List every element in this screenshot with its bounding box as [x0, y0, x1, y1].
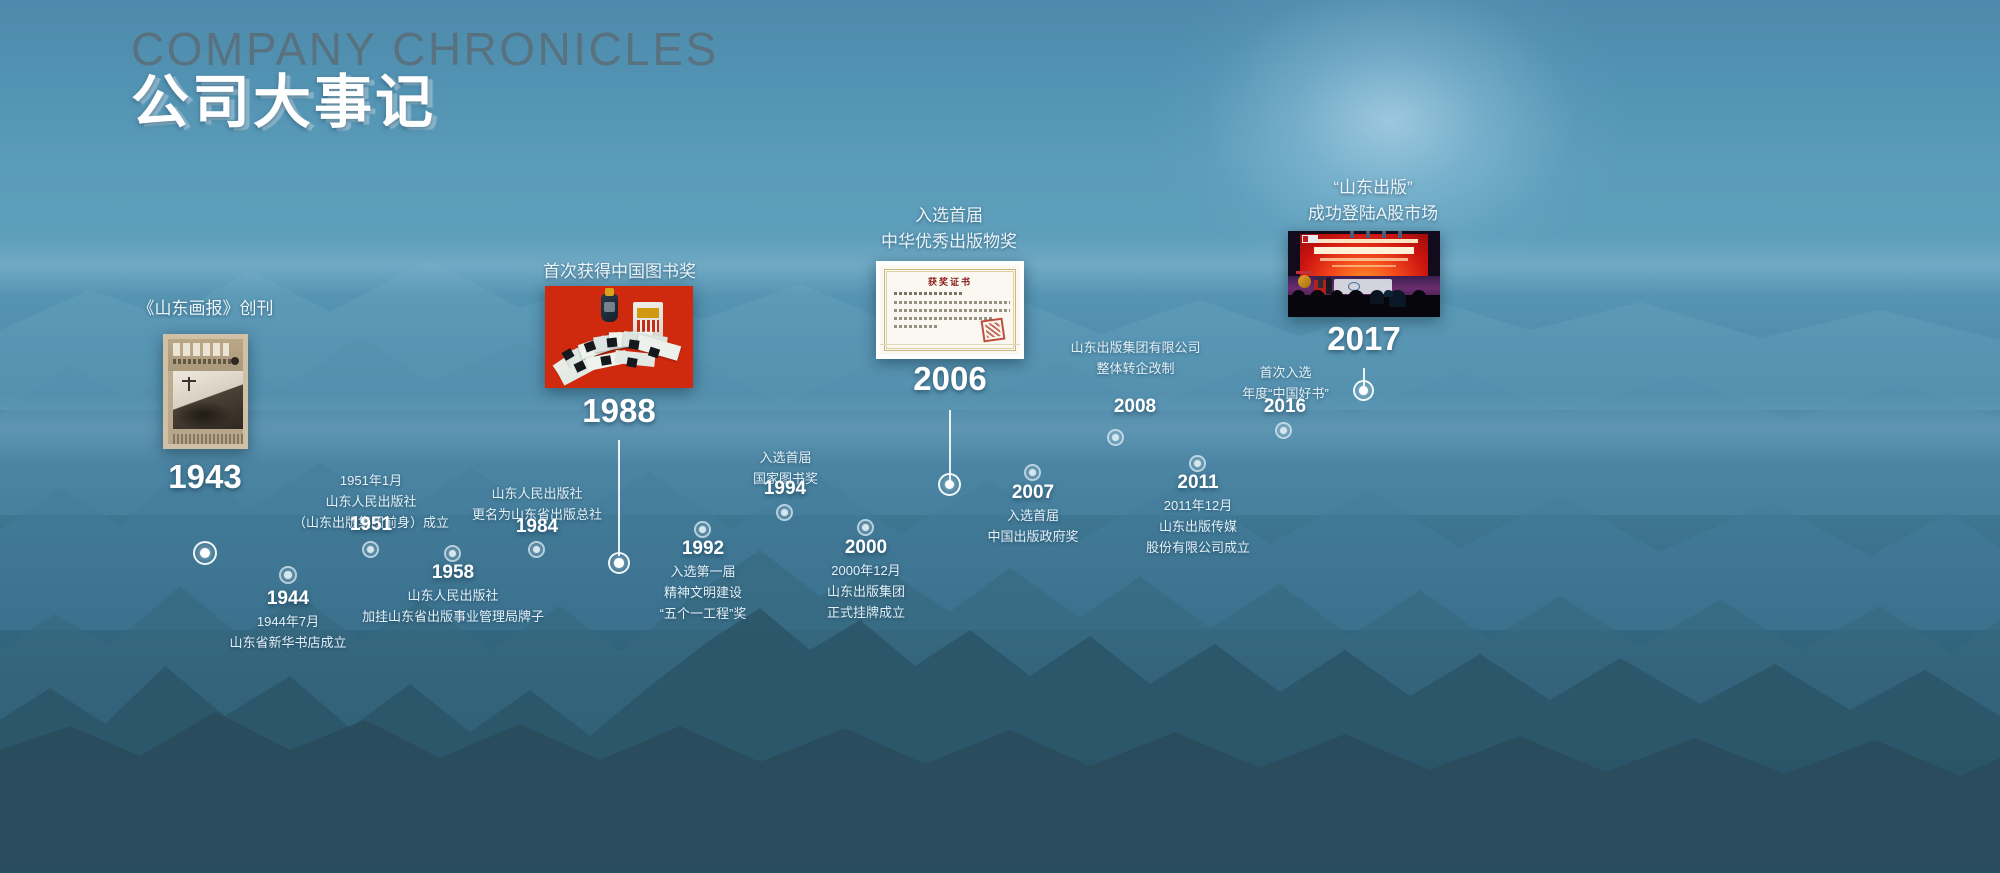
event-desc-line: 山东出版集团有限公司 [1028, 338, 1243, 359]
header: COMPANY CHRONICLES 公司大事记 公司大事记 [0, 0, 2000, 150]
event-desc-1958: 山东人民出版社 加挂山东省出版事业管理局牌子 [358, 586, 548, 628]
event-desc-line: 入选首届 [958, 506, 1108, 527]
event-node-2007[interactable] [1024, 464, 1041, 481]
photo-ipo-ceremony-2017[interactable] [1288, 231, 1440, 317]
event-node-1992[interactable] [694, 521, 711, 538]
event-desc-line: 1944年7月 [208, 612, 368, 633]
event-desc-line: 1951年1月 [281, 471, 461, 492]
event-year-2008: 2008 [1075, 396, 1195, 418]
event-year-1992: 1992 [643, 538, 763, 560]
event-node-2006[interactable] [938, 473, 961, 496]
event-year-1944: 1944 [228, 588, 348, 610]
event-year-2011: 2011 [1138, 472, 1258, 494]
mountain-layer-near [0, 400, 2000, 760]
event-caption-2017: “山东出版” 成功登陆A股市场 [1253, 175, 1493, 228]
event-node-2017[interactable] [1353, 380, 1374, 401]
event-desc-1944: 1944年7月 山东省新华书店成立 [208, 612, 368, 654]
event-desc-line: 山东人民出版社 [281, 492, 461, 513]
event-year-2000: 2000 [806, 537, 926, 559]
event-caption-line: 入选首届 [824, 203, 1074, 229]
event-desc-line: 中国出版政府奖 [958, 527, 1108, 548]
banner-line-1 [1310, 239, 1418, 243]
event-desc-2007: 入选首届 中国出版政府奖 [958, 506, 1108, 548]
event-desc-line: 山东省新华书店成立 [208, 633, 368, 654]
event-desc-line: 加挂山东省出版事业管理局牌子 [358, 607, 548, 628]
event-year-1958: 1958 [393, 562, 513, 584]
event-node-1944[interactable] [279, 566, 297, 584]
certificate-title: 获奖证书 [880, 275, 1020, 288]
event-stem-1988 [618, 440, 620, 556]
event-year-2006: 2006 [860, 360, 1040, 398]
event-year-1994: 1994 [725, 478, 845, 500]
event-desc-line: 山东人民出版社 [358, 586, 548, 607]
event-year-2016: 2016 [1225, 396, 1345, 418]
photo-shandong-pictorial-1943[interactable] [163, 334, 248, 449]
event-stem-2006 [949, 410, 951, 482]
event-year-1943: 1943 [115, 458, 295, 496]
event-caption-line: “山东出版” [1253, 175, 1493, 201]
event-desc-2008: 山东出版集团有限公司 整体转企改制 [1028, 338, 1243, 380]
event-node-1984[interactable] [528, 541, 545, 558]
event-year-1988: 1988 [529, 392, 709, 430]
event-desc-line: 山东出版传媒 [1118, 517, 1278, 538]
event-desc-line: 入选第一届 [628, 562, 778, 583]
event-desc-line: “五个一工程”奖 [628, 604, 778, 625]
event-desc-1992: 入选第一届 精神文明建设 “五个一工程”奖 [628, 562, 778, 624]
banner-line-2 [1314, 247, 1414, 254]
event-caption-line: 中华优秀出版物奖 [824, 229, 1074, 255]
event-desc-line: 首次入选 [1213, 363, 1358, 384]
event-year-2017: 2017 [1274, 320, 1454, 358]
event-desc-line: 股份有限公司成立 [1118, 538, 1278, 559]
event-desc-line: 2000年12月 [791, 561, 941, 582]
event-desc-line: 整体转企改制 [1028, 359, 1243, 380]
event-desc-2000: 2000年12月 山东出版集团 正式挂牌成立 [791, 561, 941, 623]
photo-award-certificate-2006[interactable]: 获奖证书 [876, 261, 1024, 359]
event-desc-line: 山东出版集团 [791, 582, 941, 603]
page-title-chinese: 公司大事记 [131, 55, 436, 139]
event-year-1984: 1984 [477, 516, 597, 538]
event-desc-2011: 2011年12月 山东出版传媒 股份有限公司成立 [1118, 496, 1278, 558]
event-desc-line: 2011年12月 [1118, 496, 1278, 517]
event-node-1994[interactable] [776, 504, 793, 521]
event-node-1951[interactable] [362, 541, 379, 558]
timeline-infographic: COMPANY CHRONICLES 公司大事记 公司大事记 《山东画报》创刊 … [0, 0, 2000, 873]
event-node-1988[interactable] [608, 552, 630, 574]
event-node-2008[interactable] [1107, 429, 1124, 446]
event-desc-line: 正式挂牌成立 [791, 603, 941, 624]
event-caption-1988: 首次获得中国图书奖 [492, 259, 747, 285]
event-year-2007: 2007 [973, 482, 1093, 504]
event-node-2016[interactable] [1275, 422, 1292, 439]
event-year-1951: 1951 [311, 514, 431, 536]
event-caption-1943: 《山东画报》创刊 [78, 296, 333, 322]
event-node-1943[interactable] [193, 541, 217, 565]
event-node-2000[interactable] [857, 519, 874, 536]
event-node-2011[interactable] [1189, 455, 1206, 472]
event-caption-line: 成功登陆A股市场 [1253, 201, 1493, 227]
photo-china-book-award-1988[interactable] [545, 286, 693, 388]
event-caption-2006: 入选首届 中华优秀出版物奖 [824, 203, 1074, 256]
event-node-1958[interactable] [444, 545, 461, 562]
event-desc-line: 精神文明建设 [628, 583, 778, 604]
event-desc-line: 入选首届 [713, 448, 858, 469]
haze-band-mid [0, 395, 2000, 465]
event-desc-line: 山东人民出版社 [442, 484, 632, 505]
